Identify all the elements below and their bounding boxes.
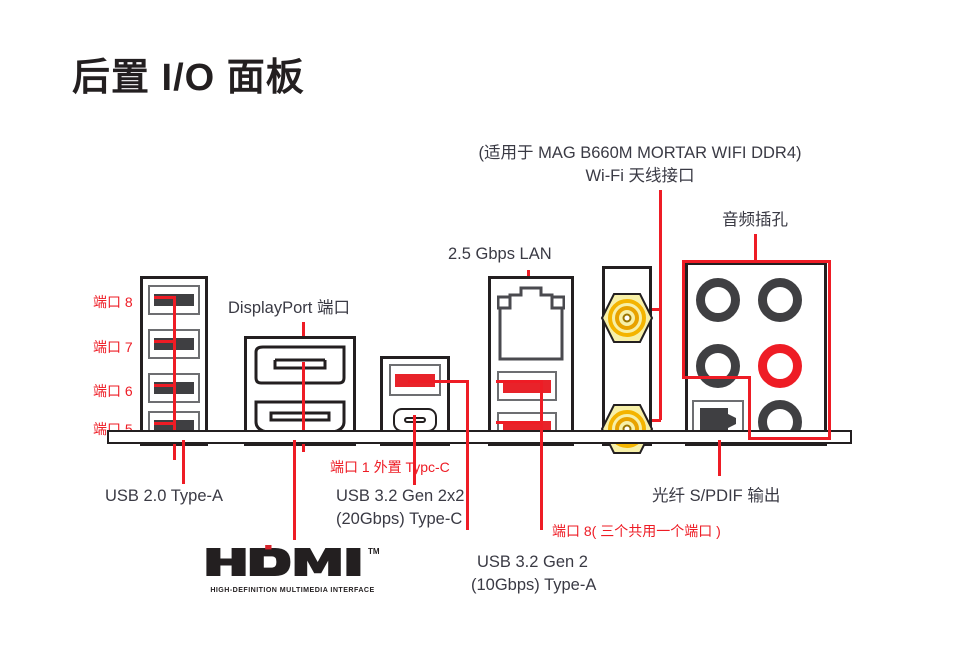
wifi-annotation-line1: (适用于 MAG B660M MORTAR WIFI DDR4) [438,142,842,165]
usb-2-0-hook-5 [154,422,175,425]
wifi-annotation-line2: Wi-Fi 天线接口 [438,165,842,188]
usb-2-0-hook-8 [154,296,175,299]
page-title: 后置 I/O 面板 [72,46,305,101]
rj45-lan-port [497,285,565,363]
audio-callout-right [828,260,831,440]
audio-callout-top [682,260,830,263]
usbc-callout-h-from-port [408,380,468,383]
displayport-connector [253,344,347,386]
hdmi-trademark-icon: TM [368,547,380,556]
usb32-callout-h-lower [496,421,542,424]
usbc-callout-v-down [466,380,469,530]
port-label-6: 端口 6 [93,381,133,401]
spdif-bottom-leader [718,440,721,476]
spdif-label: 光纤 S/PDIF 输出 [652,485,780,508]
port-label-1-typec: 端口 1 外置 Typc-C [330,457,450,477]
hdmi-bottom-leader [293,440,296,540]
audio-jack-2 [758,278,802,322]
audio-jack-1 [696,278,740,322]
audio-callout-notch [682,376,750,379]
usb-3-2-gen2x2-label-line1: USB 3.2 Gen 2x2 [336,485,464,508]
usb-3-2-gen2-label-line1: USB 3.2 Gen 2 [477,551,588,574]
io-shield-baseplate [107,430,852,444]
port-label-8-shared: 端口 8( 三个共用一个端口 ) [552,521,721,541]
wifi-antenna-connector-lower [600,403,654,455]
wifi-antenna-connector-upper [600,292,654,344]
usb32-callout-h-upper [496,380,542,383]
port-label-8: 端口 8 [93,292,133,312]
usb-2-0-bottom-leader [182,440,185,484]
usb-2-0-hook-7 [154,340,175,343]
usb-3-2-gen2x2-label-line2: (20Gbps) Type-C [336,508,462,531]
usb-3-2-gen2-label-line2: (10Gbps) Type-A [471,574,596,597]
hdmi-wordmark-icon [205,545,380,579]
hdmi-tagline: HIGH-DEFINITION MULTIMEDIA INTERFACE [205,586,380,594]
hdmi-logo: TM HIGH-DEFINITION MULTIMEDIA INTERFACE [205,545,380,594]
audio-jack-3 [696,344,740,388]
usb32-callout-v-down [540,380,543,530]
audio-jacks-annotation: 音频插孔 [660,209,850,232]
audio-jack-line-out [758,344,802,388]
audio-jacks-leader [754,234,757,260]
lan-annotation: 2.5 Gbps LAN [448,243,552,266]
audio-callout-left-lower [748,376,751,437]
audio-callout-left-upper [682,260,685,376]
usb-3-2-gen2-port-a-upper [497,371,557,401]
port-label-7: 端口 7 [93,337,133,357]
usb-2-0-hook-6 [154,384,175,387]
usb-2-0-label: USB 2.0 Type-A [105,485,223,508]
audio-callout-bottom [748,437,830,440]
